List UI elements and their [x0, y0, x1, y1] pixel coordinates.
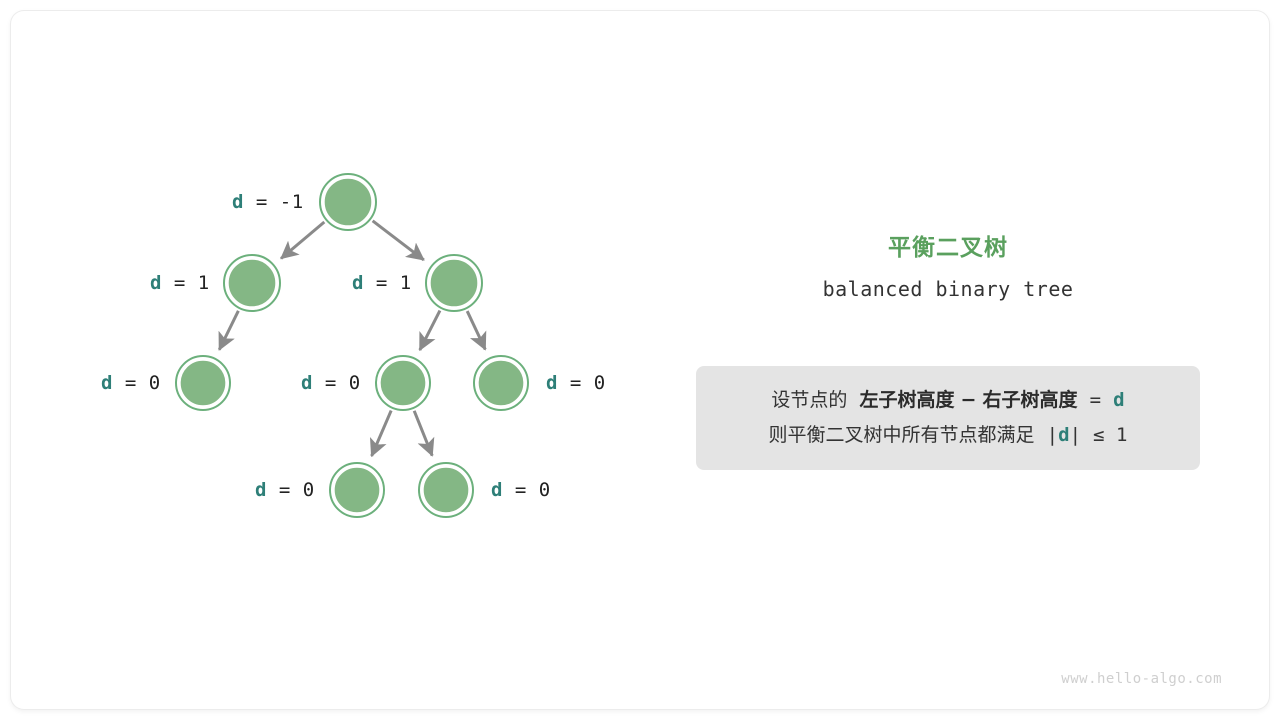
node-balance-value: = 1 — [162, 272, 210, 294]
node-balance-symbol: d — [491, 479, 503, 501]
node-balance-label: d = 0 — [491, 479, 551, 501]
tree-edge — [373, 221, 424, 260]
tree-node-fill — [380, 360, 427, 407]
node-balance-value: = 0 — [113, 372, 161, 394]
tree-edge — [372, 411, 392, 456]
tree-edge — [219, 311, 238, 350]
tree-edge — [281, 222, 324, 259]
node-balance-symbol: d — [232, 191, 244, 213]
tree-node[interactable] — [376, 356, 430, 410]
node-balance-value: = 1 — [364, 272, 412, 294]
tree-node-fill — [478, 360, 525, 407]
info-line2-compare: ≤ 1 — [1093, 424, 1127, 446]
tree-nodes — [176, 174, 528, 517]
info-line1-prefix: 设节点的 — [771, 389, 847, 411]
node-balance-value: = -1 — [244, 191, 304, 213]
tree-node[interactable] — [330, 463, 384, 517]
tree-node-fill — [423, 467, 470, 514]
panel-subtitle: balanced binary tree — [698, 277, 1198, 301]
info-line1-equals: = — [1090, 389, 1101, 411]
tree-edge — [467, 311, 485, 349]
tree-node[interactable] — [320, 174, 376, 230]
node-balance-label: d = 1 — [150, 272, 210, 294]
tree-node-fill — [334, 467, 381, 514]
info-line1-bold-right: 右子树高度 — [983, 389, 1078, 411]
node-balance-label: d = 0 — [255, 479, 315, 501]
tree-node[interactable] — [224, 255, 280, 311]
node-balance-value: = 0 — [558, 372, 606, 394]
tree-node-fill — [324, 178, 373, 227]
node-balance-symbol: d — [352, 272, 364, 294]
node-balance-symbol: d — [301, 372, 313, 394]
info-line2-prefix: 则平衡二叉树中所有节点都满足 — [769, 424, 1035, 446]
tree-edge — [420, 311, 440, 350]
node-balance-symbol: d — [546, 372, 558, 394]
node-balance-label: d = -1 — [232, 191, 304, 213]
tree-node[interactable] — [474, 356, 528, 410]
tree-edge — [414, 411, 432, 456]
node-balance-label: d = 0 — [101, 372, 161, 394]
definition-info-box: 设节点的 左子树高度 − 右子树高度 = d 则平衡二叉树中所有节点都满足 |d… — [696, 366, 1200, 470]
tree-node[interactable] — [419, 463, 473, 517]
info-line2-bar-left: | — [1047, 424, 1058, 446]
info-line1-value: d — [1113, 389, 1124, 411]
info-line-2: 则平衡二叉树中所有节点都满足 |d| ≤ 1 — [696, 418, 1200, 453]
panel-title: 平衡二叉树 — [698, 228, 1198, 262]
tree-node-fill — [180, 360, 227, 407]
tree-node[interactable] — [176, 356, 230, 410]
node-balance-value: = 0 — [267, 479, 315, 501]
info-line1-minus: − — [961, 389, 977, 411]
footer-url: www.hello-algo.com — [0, 671, 1222, 687]
node-balance-label: d = 0 — [301, 372, 361, 394]
node-balance-label: d = 1 — [352, 272, 412, 294]
node-balance-symbol: d — [150, 272, 162, 294]
node-balance-value: = 0 — [503, 479, 551, 501]
figure-canvas: d = -1d = 1d = 1d = 0d = 0d = 0d = 0d = … — [0, 0, 1280, 720]
node-balance-symbol: d — [101, 372, 113, 394]
tree-node[interactable] — [426, 255, 482, 311]
binary-tree-diagram — [0, 0, 1280, 720]
tree-node-fill — [430, 259, 479, 308]
node-balance-symbol: d — [255, 479, 267, 501]
info-line-1: 设节点的 左子树高度 − 右子树高度 = d — [696, 383, 1200, 418]
info-line1-bold-left: 左子树高度 — [859, 389, 954, 411]
node-balance-label: d = 0 — [546, 372, 606, 394]
info-line2-value: d — [1058, 424, 1069, 446]
info-line2-bar-right: | — [1070, 424, 1081, 446]
node-balance-value: = 0 — [313, 372, 361, 394]
tree-node-fill — [228, 259, 277, 308]
